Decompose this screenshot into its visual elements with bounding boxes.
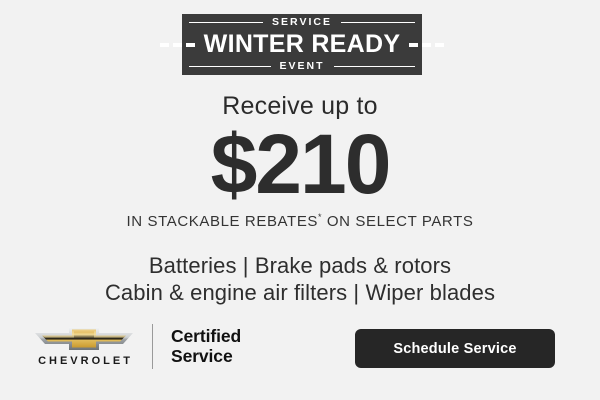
badge-kicker-top-row: SERVICE xyxy=(182,16,422,30)
certified-line-2: Service xyxy=(171,346,241,366)
badge-dashes-right-icon xyxy=(409,43,444,47)
badge-kicker-service: SERVICE xyxy=(263,17,341,28)
event-badge: SERVICE WINTER READY EVENT xyxy=(182,14,422,75)
certified-service-label: Certified Service xyxy=(171,326,241,366)
parts-line-1: Batteries | Brake pads & rotors xyxy=(0,252,600,279)
badge-rule-right-bottom xyxy=(334,66,416,67)
chevrolet-logo: CHEVROLET xyxy=(30,325,138,367)
offer-rebates-text: IN STACKABLE REBATES xyxy=(127,213,319,230)
schedule-service-button[interactable]: Schedule Service xyxy=(355,329,555,368)
badge-dashes-left-icon xyxy=(160,43,195,47)
eligible-parts: Batteries | Brake pads & rotors Cabin & … xyxy=(0,252,600,306)
brand-lockup: CHEVROLET Certified Service xyxy=(30,318,241,374)
badge-rule-left xyxy=(189,22,263,23)
certified-line-1: Certified xyxy=(171,326,241,346)
badge-title-row: WINTER READY xyxy=(182,30,422,60)
footer: CHEVROLET Certified Service Schedule Ser… xyxy=(0,318,600,380)
chevrolet-wordmark: CHEVROLET xyxy=(35,356,133,367)
badge-kicker-event: EVENT xyxy=(271,61,334,72)
badge-rule-right xyxy=(341,22,415,23)
badge-rule-left-bottom xyxy=(189,66,271,67)
winter-ready-service-ad: SERVICE WINTER READY EVENT Receive up to… xyxy=(0,0,600,400)
offer-rebates-line: IN STACKABLE REBATES* ON SELECT PARTS xyxy=(0,214,600,229)
badge-kicker-bottom-row: EVENT xyxy=(182,60,422,74)
badge-title: WINTER READY xyxy=(204,32,401,57)
offer-lead-in: Receive up to xyxy=(0,94,600,119)
brand-divider xyxy=(152,324,153,369)
offer-amount: $210 xyxy=(0,122,600,206)
chevrolet-bowtie-icon xyxy=(30,325,138,352)
offer-rebates-tail: ON SELECT PARTS xyxy=(322,213,473,230)
parts-line-2: Cabin & engine air filters | Wiper blade… xyxy=(0,279,600,306)
